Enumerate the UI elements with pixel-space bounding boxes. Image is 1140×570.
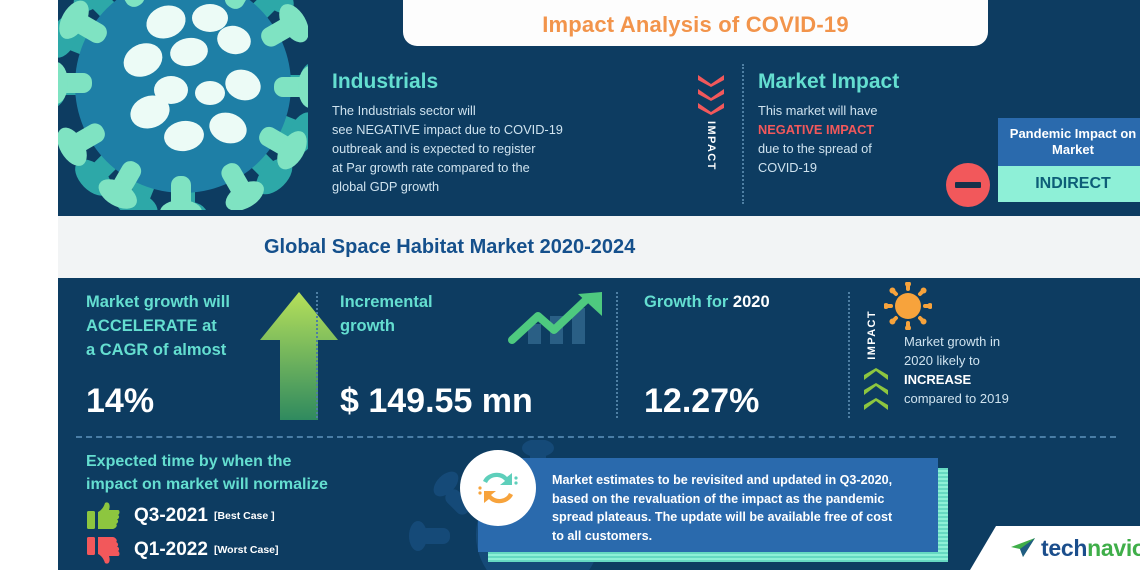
logo-part-1: tech [1041,535,1087,561]
stat-cagr-label-3: a CAGR of almost [86,338,286,362]
vertical-divider [742,64,744,204]
infographic-root: Industrials The Industrials sector will … [0,0,1140,570]
title-banner: Impact Analysis of COVID-19 [403,0,988,46]
stat-cagr-label: Market growth will ACCELERATE at a CAGR … [86,290,286,362]
normalize-best-case-row: Q3-2021 [Best Case ] [86,502,416,530]
chevron-down-icon [696,102,726,115]
market-impact-line-4: COVID-19 [758,158,948,177]
industrials-line-4: at Par growth rate compared to the [332,158,632,177]
stat-growth-2020-label-1: Growth for [644,293,728,311]
arrow-up-icon [258,290,340,422]
industrials-line-3: outbreak and is expected to register [332,139,632,158]
note-line-2: based on the revaluation of the impact a… [552,490,922,509]
note-text: Market estimates to be revisited and upd… [552,471,922,545]
stat-growth-2020-value: 12.27% [644,382,759,421]
stat-growth-2020-label: Growth for 2020 [644,290,874,314]
top-info-row: Industrials The Industrials sector will … [58,46,1140,216]
trend-up-icon [506,288,610,350]
chevron-up-icon [862,383,890,397]
impact-panel-text: Market growth in 2020 likely to INCREASE… [904,332,1104,408]
market-title-band: Global Space Habitat Market 2020-2024 [58,216,1140,278]
virus-icon [884,282,932,330]
stat-cagr-value: 14% [86,382,154,421]
market-impact-block: Market Impact This market will have NEGA… [758,70,948,177]
industrials-heading: Industrials [332,70,632,94]
stat-cagr-label-1: Market growth will [86,290,286,314]
impact-panel-label: IMPACT [866,310,878,360]
pandemic-impact-heading: Pandemic Impact on Market [998,118,1140,166]
market-impact-body: This market will have NEGATIVE IMPACT du… [758,101,948,177]
industrials-line-2-post: impact due to COVID-19 [420,122,563,137]
stat-cagr: Market growth will ACCELERATE at a CAGR … [86,290,286,362]
page-title: Impact Analysis of COVID-19 [542,12,849,38]
stats-row: Market growth will ACCELERATE at a CAGR … [58,278,1140,434]
chevron-down-icon [696,88,726,101]
market-impact-line-3: due to the spread of [758,139,948,158]
note-line-3: spread plateaus. The update will be avai… [552,508,922,527]
impact-label-top: IMPACT [705,121,717,171]
note-line-1: Market estimates to be revisited and upd… [552,471,922,490]
market-title: Global Space Habitat Market 2020-2024 [264,236,635,259]
impact-panel: IMPACT [866,280,1116,430]
pandemic-impact-value: INDIRECT [998,166,1140,202]
impact-badge-top: IMPACT [694,74,728,204]
normalize-block: Expected time by when the impact on mark… [86,450,416,564]
refresh-icon [460,450,536,526]
impact-panel-increase: INCREASE [904,372,971,387]
left-white-strip [0,0,58,570]
note-line-4: to all customers. [552,527,922,546]
stat-growth-2020: Growth for 2020 12.27% [644,290,874,314]
normalize-worst-quarter: Q1-2022 [134,539,208,561]
minus-circle-icon [946,163,990,207]
normalize-worst-case-label: [Worst Case] [214,544,279,556]
normalize-worst-case-row: Q1-2022 [Worst Case] [86,536,416,564]
market-impact-heading: Market Impact [758,70,948,94]
pandemic-impact-box: Pandemic Impact on Market INDIRECT [998,118,1140,202]
logo-part-2: navio [1087,535,1140,561]
normalize-title-2: impact on market will normalize [86,473,416,496]
stat-cagr-label-2: ACCELERATE at [86,314,286,338]
impact-panel-line-1: Market growth in [904,332,1104,351]
technavio-arrow-icon [1010,537,1036,559]
vertical-divider [616,292,618,418]
stat-growth-2020-highlight: 2020 [733,293,770,311]
market-impact-negative: NEGATIVE IMPACT [758,120,948,139]
industrials-line-2-pre: see [332,122,356,137]
vertical-divider [316,292,318,418]
refresh-arrows-icon [473,463,523,513]
industrials-line-5: global GDP growth [332,177,632,196]
section-divider [76,436,1116,438]
chevron-down-icon [696,74,726,87]
technavio-logo: technavio™ [970,526,1140,570]
infographic-canvas: Industrials The Industrials sector will … [58,0,1140,570]
chevron-down-stack [696,74,726,115]
chevron-up-stack [862,368,890,412]
thumbs-down-icon [86,536,120,564]
chevron-up-icon [862,368,890,382]
thumbs-up-icon [86,502,120,530]
market-impact-line-1: This market will have [758,101,948,120]
stat-incremental-value: $ 149.55 mn [340,382,533,421]
technavio-logo-text: technavio™ [1041,535,1140,562]
impact-panel-line-2: 2020 likely to [904,351,1104,370]
normalize-best-quarter: Q3-2021 [134,505,208,527]
industrials-body: The Industrials sector will see NEGATIVE… [332,101,632,196]
impact-panel-line-4: compared to 2019 [904,389,1104,408]
industrials-negative-emphasis: NEGATIVE [356,122,420,137]
normalize-title-1: Expected time by when the [86,450,416,473]
industrials-line-2: see NEGATIVE impact due to COVID-19 [332,120,632,139]
note-box: Market estimates to be revisited and upd… [478,458,938,552]
industrials-block: Industrials The Industrials sector will … [332,70,632,196]
vertical-divider [848,292,850,418]
chevron-up-icon [862,398,890,412]
industrials-line-1: The Industrials sector will [332,101,632,120]
normalize-best-case-label: [Best Case ] [214,510,275,522]
